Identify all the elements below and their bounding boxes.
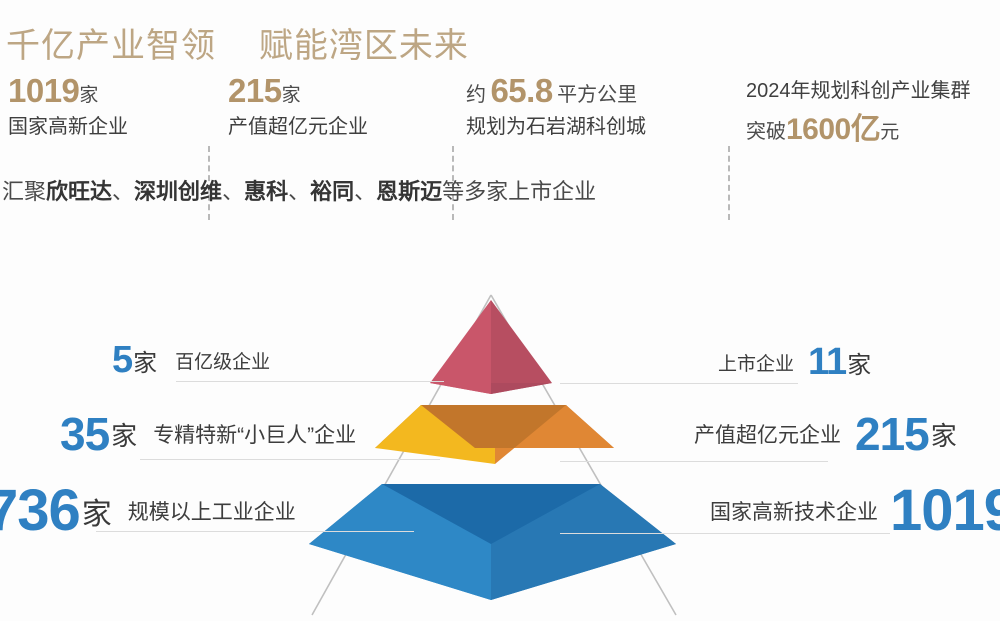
stat-number: 215 [228, 72, 282, 109]
brand-sep-2: 、 [288, 179, 310, 204]
pyramid-unit-left-tier1: 家 [133, 343, 157, 378]
infographic-canvas: 千亿产业智领 赋能湾区未来 1019家 国家高新企业 215家 产值超亿元企业 [0, 0, 1000, 621]
label-rule-right-2 [560, 461, 828, 462]
brand-sep-1: 、 [222, 179, 244, 204]
pyramid-tier-bottom [309, 484, 676, 600]
stat-value-line: 215家 [228, 72, 368, 110]
stat-high-tech-enterprises: 1019家 国家高新企业 [8, 72, 128, 144]
stat-suffix: 元 [880, 122, 899, 143]
brands-line: 汇聚欣旺达、深圳创维、惠科、裕同、恩斯迈等多家上市企业 [2, 174, 596, 206]
stat-2024-cluster-target: 2024年规划科创产业集群 突破1600亿元 [746, 72, 971, 150]
pyramid-value-right-tier3: 1019 [890, 477, 1000, 544]
stat-number: 1019 [8, 72, 79, 109]
pyramid-unit-left-tier3: 家 [82, 489, 112, 533]
brand-name-4: 恩斯迈 [376, 179, 442, 204]
brand-name-1: 深圳创维 [134, 179, 222, 204]
brand-name-0: 欣旺达 [46, 179, 112, 204]
pyramid-label-left-tier3: 736家规模以上工业企业 [0, 477, 296, 544]
page-title-part2: 赋能湾区未来 [259, 27, 469, 65]
brand-sep-0: 、 [112, 179, 134, 204]
stat-unit: 亿 [851, 113, 881, 146]
stat-caption: 国家高新企业 [8, 116, 128, 138]
stat-divider-3 [728, 146, 730, 220]
pyramid-tier-middle [375, 405, 614, 464]
stat-caption: 规划为石岩湖科创城 [466, 116, 646, 138]
stat-shiyan-lake-area: 约 65.8 平方公里 规划为石岩湖科创城 [466, 72, 646, 144]
stat-caption: 产值超亿元企业 [228, 116, 368, 138]
stat-number: 65.8 [490, 72, 552, 109]
pyramid-label-right-tier3: 国家高新技术企业1019家 [710, 477, 1000, 544]
pyramid-unit-right-tier2: 家 [931, 416, 957, 453]
brands-suffix: 等多家上市企业 [442, 179, 596, 204]
brand-name-2: 惠科 [244, 179, 288, 204]
stat-unit: 平方公里 [557, 84, 637, 106]
pyramid-label-left-tier1: 5家百亿级企业 [112, 339, 270, 382]
stat-value-line: 突破1600亿元 [746, 110, 971, 150]
pyramid-label-right-tier1: 上市企业11家 [718, 341, 871, 384]
stat-unit: 家 [282, 85, 301, 106]
pyramid-unit-left-tier2: 家 [111, 416, 137, 453]
header-stats: 1019家 国家高新企业 215家 产值超亿元企业 约 65.8 平方公里 规划 [0, 72, 1000, 152]
pyramid-value-left-tier2: 35 [60, 407, 109, 461]
stat-unit: 家 [79, 85, 98, 106]
pyramid-unit-right-tier1: 家 [847, 345, 871, 380]
pyramid-text-left-tier1: 百亿级企业 [175, 347, 270, 374]
brand-name-3: 裕同 [310, 179, 354, 204]
pyramid-text-right-tier3: 国家高新技术企业 [710, 496, 878, 526]
brand-sep-3: 、 [354, 179, 376, 204]
pyramid-value-right-tier2: 215 [855, 407, 929, 461]
page-title: 千亿产业智领 赋能湾区未来 [6, 18, 469, 67]
stat-caption-line: 国家高新企业 [8, 110, 128, 144]
pyramid-text-right-tier2: 产值超亿元企业 [694, 419, 841, 449]
pyramid-chart: 5家百亿级企业 35家专精特新“小巨人”企业 736家规模以上工业企业 上市企业… [0, 255, 1000, 621]
stat-caption-line: 规划为石岩湖科创城 [466, 110, 646, 144]
stat-caption-line: 2024年规划科创产业集群 [746, 72, 971, 110]
page-title-part1: 千亿产业智领 [6, 27, 216, 65]
pyramid-value-right-tier1: 11 [808, 341, 846, 384]
pyramid-text-left-tier3: 规模以上工业企业 [128, 496, 296, 526]
stat-caption: 2024年规划科创产业集群 [746, 80, 971, 102]
stat-value-line: 约 65.8 平方公里 [466, 72, 646, 110]
stat-number: 1600 [786, 113, 851, 146]
pyramid-value-left-tier3: 736 [0, 477, 80, 544]
brands-prefix: 汇聚 [2, 179, 46, 204]
stat-prefix: 约 [466, 84, 486, 106]
stat-caption-line: 产值超亿元企业 [228, 110, 368, 144]
pyramid-label-left-tier2: 35家专精特新“小巨人”企业 [60, 407, 356, 461]
stat-over-100m-output: 215家 产值超亿元企业 [228, 72, 368, 144]
pyramid-text-left-tier2: 专精特新“小巨人”企业 [153, 419, 356, 449]
stat-prefix: 突破 [746, 121, 786, 143]
pyramid-value-left-tier1: 5 [112, 339, 132, 382]
pyramid-tier-top [430, 300, 552, 394]
pyramid-label-right-tier2: 产值超亿元企业215家 [694, 407, 957, 461]
stat-value-line: 1019家 [8, 72, 128, 110]
pyramid-text-right-tier1: 上市企业 [718, 349, 794, 376]
